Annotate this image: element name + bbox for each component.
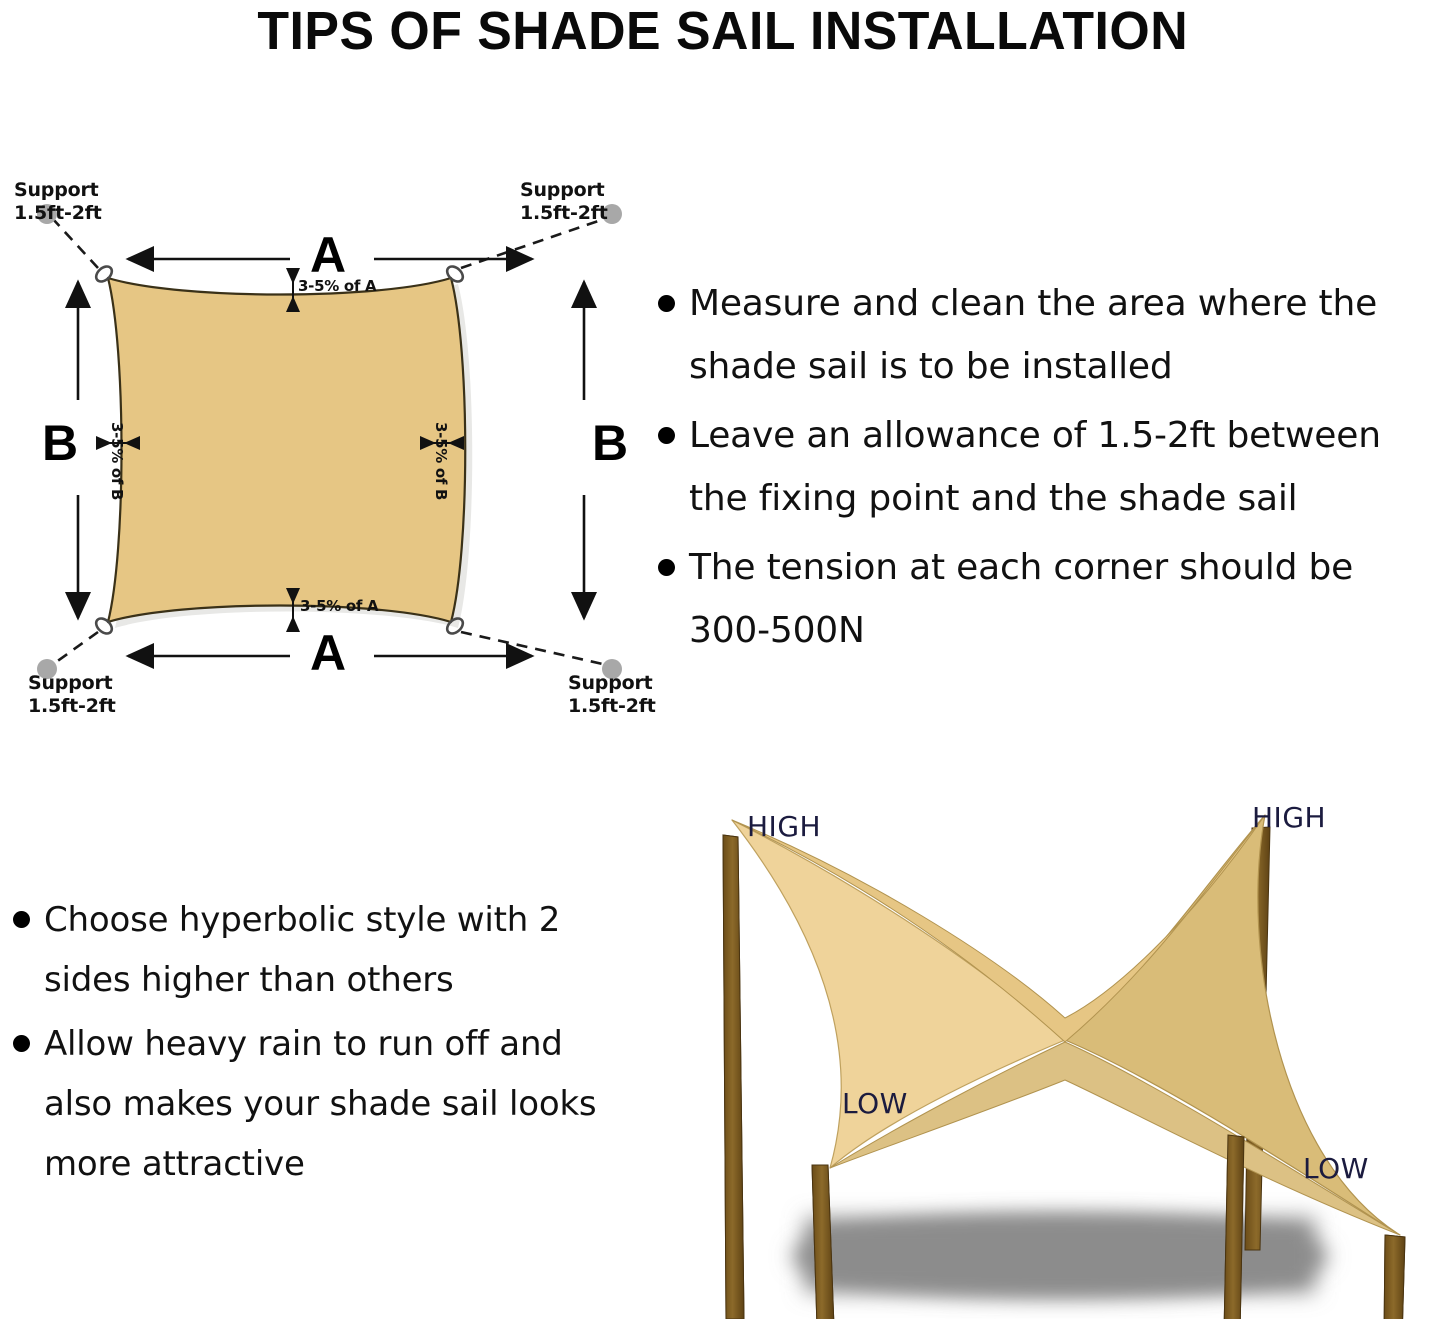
tolerance-label-a-bottom: 3-5% of A	[300, 597, 378, 615]
tether-line	[52, 218, 98, 268]
rect-sail-diagram: Support 1.5ft-2ft Support 1.5ft-2ft Supp…	[0, 160, 660, 720]
tolerance-label-a-top: 3-5% of A	[298, 277, 376, 295]
page-title: TIPS OF SHADE SAIL INSTALLATION	[257, 4, 1188, 58]
support-label-bottom-left: Support 1.5ft-2ft	[28, 672, 116, 718]
bullet-dot-icon	[13, 1035, 30, 1052]
bullet-dot-icon	[658, 559, 675, 576]
tip-text: The tension at each corner should be 300…	[689, 536, 1445, 662]
sail-fabric	[108, 278, 465, 622]
tip-text: Allow heavy rain to run off and also mak…	[44, 1014, 625, 1194]
pole-high-left-front-segment	[723, 835, 744, 1319]
tip-text: Leave an allowance of 1.5-2ft between th…	[689, 404, 1445, 530]
support-label-top-right: Support 1.5ft-2ft	[520, 179, 608, 225]
list-item: The tension at each corner should be 300…	[645, 536, 1445, 662]
tolerance-label-b-left: 3-5% of B	[108, 422, 126, 500]
pole-low-left-front-segment	[812, 1165, 834, 1319]
sail-shape-group	[108, 278, 472, 628]
list-item: Leave an allowance of 1.5-2ft between th…	[645, 404, 1445, 530]
page-header: TIPS OF SHADE SAIL INSTALLATION	[0, 0, 1445, 62]
bullet-dot-icon	[658, 427, 675, 444]
support-label-bottom-right: Support 1.5ft-2ft	[568, 672, 656, 718]
installation-tips-list-top: Measure and clean the area where the sha…	[645, 272, 1445, 668]
dim-letter-a-bottom: A	[310, 628, 346, 678]
tolerance-label-b-right: 3-5% of B	[432, 422, 450, 500]
tether-line	[461, 218, 607, 268]
dim-letter-b-left: B	[42, 418, 78, 468]
list-item: Measure and clean the area where the sha…	[645, 272, 1445, 398]
bullet-dot-icon	[13, 911, 30, 928]
dim-letter-a-top: A	[310, 230, 346, 280]
dim-letter-b-right: B	[592, 418, 628, 468]
list-item: Allow heavy rain to run off and also mak…	[0, 1014, 625, 1194]
label-high-left: HIGH	[747, 810, 821, 843]
installation-tips-list-bottom: Choose hyperbolic style with 2 sides hig…	[0, 890, 625, 1198]
label-low-right: LOW	[1303, 1152, 1369, 1185]
label-high-right: HIGH	[1252, 801, 1326, 834]
hyperbolic-sail-diagram: HIGH HIGH LOW LOW	[640, 780, 1445, 1319]
tether-line	[461, 632, 607, 665]
support-label-top-left: Support 1.5ft-2ft	[14, 179, 102, 225]
label-low-left: LOW	[842, 1087, 908, 1120]
hyperbolic-sail-svg	[640, 780, 1445, 1319]
bullet-dot-icon	[658, 295, 675, 312]
tip-text: Choose hyperbolic style with 2 sides hig…	[44, 890, 625, 1010]
tether-line	[52, 632, 98, 665]
tip-text: Measure and clean the area where the sha…	[689, 272, 1445, 398]
pole-low-right-front-segment	[1384, 1235, 1405, 1319]
pole-low-mid-front-segment	[1224, 1135, 1244, 1319]
list-item: Choose hyperbolic style with 2 sides hig…	[0, 890, 625, 1010]
